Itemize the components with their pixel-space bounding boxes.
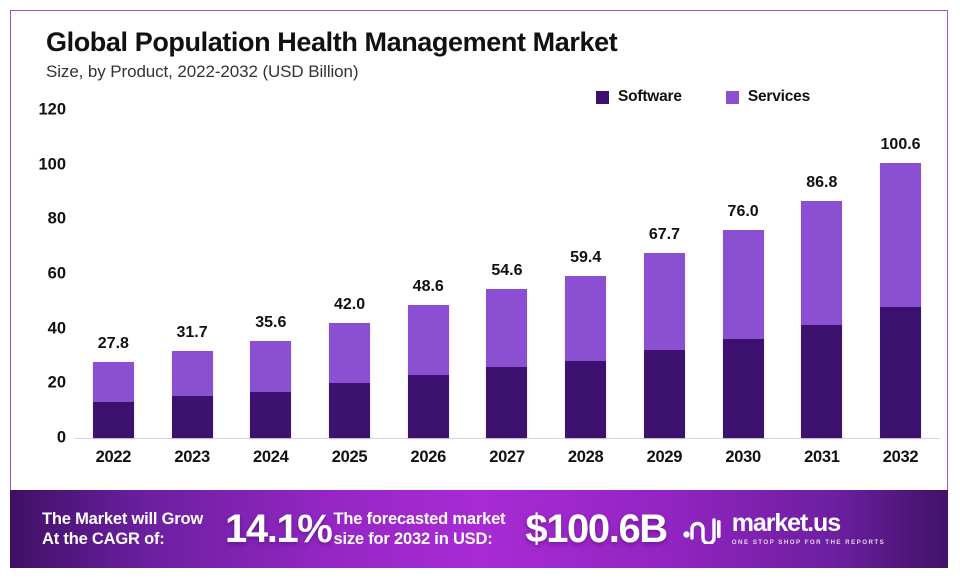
forecast-caption-block: The forecasted market size for 2032 in U…: [333, 509, 505, 549]
bar-stack[interactable]: [644, 253, 685, 438]
logo-name: market.us: [732, 511, 885, 536]
bar-segment-services[interactable]: [486, 289, 527, 367]
bar-group[interactable]: 35.6: [250, 110, 291, 438]
bar-segment-services[interactable]: [172, 351, 213, 396]
axis-baseline: [74, 438, 940, 439]
x-axis-tick: 2026: [408, 448, 449, 467]
bar-total-label: 86.8: [806, 174, 837, 192]
bar-group[interactable]: 59.4: [565, 110, 606, 438]
bar-segment-services[interactable]: [250, 341, 291, 392]
y-axis-tick: 0: [57, 429, 66, 448]
bar-total-label: 31.7: [177, 324, 208, 342]
legend-label-services: Services: [748, 88, 810, 106]
forecast-caption: The forecasted market size for 2032 in U…: [333, 509, 505, 549]
bar-segment-services[interactable]: [408, 305, 449, 374]
x-axis-tick: 2030: [723, 448, 764, 467]
bar-segment-services[interactable]: [723, 230, 764, 339]
bar-total-label: 27.8: [98, 335, 129, 353]
market-us-logo[interactable]: market.us ONE STOP SHOP FOR THE REPORTS: [681, 511, 885, 546]
page-title: Global Population Health Management Mark…: [46, 28, 906, 57]
bar-stack[interactable]: [723, 230, 764, 438]
cagr-caption-line2: At the CAGR of:: [42, 529, 203, 549]
bar-segment-services[interactable]: [880, 163, 921, 307]
bar-segment-services[interactable]: [644, 253, 685, 350]
cagr-caption: The Market will Grow At the CAGR of:: [42, 509, 203, 549]
x-axis-tick: 2031: [801, 448, 842, 467]
bar-total-label: 42.0: [334, 296, 365, 314]
forecast-caption-line1: The forecasted market: [333, 509, 505, 529]
chart-legend: Software Services: [596, 88, 810, 106]
legend-item-software[interactable]: Software: [596, 88, 682, 106]
bar-segment-software[interactable]: [329, 383, 370, 438]
bar-stack[interactable]: [801, 201, 842, 438]
cagr-value-block: 14.1%: [225, 507, 331, 552]
x-axis-tick: 2022: [93, 448, 134, 467]
bar-stack[interactable]: [172, 351, 213, 438]
forecast-caption-line2: size for 2032 in USD:: [333, 529, 505, 549]
bar-segment-software[interactable]: [801, 325, 842, 438]
bar-group[interactable]: 86.8: [801, 110, 842, 438]
x-axis: 2022202320242025202620272028202920302031…: [74, 448, 940, 467]
bar-segment-services[interactable]: [801, 201, 842, 325]
y-axis-tick: 60: [48, 265, 66, 284]
y-axis: 020406080100120: [14, 110, 66, 438]
bar-total-label: 76.0: [728, 203, 759, 221]
bar-group[interactable]: 27.8: [93, 110, 134, 438]
bar-segment-software[interactable]: [723, 339, 764, 438]
bar-stack[interactable]: [565, 276, 606, 438]
x-axis-tick: 2025: [329, 448, 370, 467]
bar-segment-software[interactable]: [93, 402, 134, 438]
bar-group[interactable]: 76.0: [723, 110, 764, 438]
x-axis-tick: 2028: [565, 448, 606, 467]
x-axis-tick: 2027: [486, 448, 527, 467]
bar-group[interactable]: 100.6: [880, 110, 921, 438]
x-axis-tick: 2023: [172, 448, 213, 467]
bar-stack[interactable]: [93, 362, 134, 438]
bar-segment-services[interactable]: [329, 323, 370, 383]
market-us-logo-mark-icon: [681, 514, 723, 544]
bar-group[interactable]: 42.0: [329, 110, 370, 438]
logo-tagline: ONE STOP SHOP FOR THE REPORTS: [732, 540, 885, 546]
x-axis-tick: 2032: [880, 448, 921, 467]
bar-series-container: 27.831.735.642.048.654.659.467.776.086.8…: [74, 110, 940, 438]
bar-total-label: 100.6: [881, 136, 921, 154]
bar-total-label: 48.6: [413, 278, 444, 296]
bar-group[interactable]: 67.7: [644, 110, 685, 438]
summary-banner: The Market will Grow At the CAGR of: 14.…: [10, 490, 948, 568]
forecast-value-block: $100.6B: [525, 507, 666, 552]
bar-segment-services[interactable]: [93, 362, 134, 402]
legend-label-software: Software: [618, 88, 682, 106]
bar-segment-services[interactable]: [565, 276, 606, 361]
bar-stack[interactable]: [329, 323, 370, 438]
infographic-root: Global Population Health Management Mark…: [0, 0, 960, 578]
bar-stack[interactable]: [250, 341, 291, 438]
bar-total-label: 59.4: [570, 249, 601, 267]
bar-total-label: 67.7: [649, 226, 680, 244]
bar-segment-software[interactable]: [172, 396, 213, 438]
forecast-value: $100.6B: [525, 507, 666, 552]
y-axis-tick: 100: [38, 155, 66, 174]
chart-header: Global Population Health Management Mark…: [46, 28, 906, 82]
bar-total-label: 35.6: [255, 314, 286, 332]
bar-group[interactable]: 31.7: [172, 110, 213, 438]
y-axis-tick: 120: [38, 101, 66, 120]
bar-segment-software[interactable]: [644, 350, 685, 438]
bar-segment-software[interactable]: [486, 367, 527, 438]
bar-segment-software[interactable]: [565, 361, 606, 438]
bar-group[interactable]: 48.6: [408, 110, 449, 438]
legend-swatch-software-icon: [596, 91, 609, 104]
cagr-value: 14.1%: [225, 507, 331, 552]
y-axis-tick: 20: [48, 374, 66, 393]
cagr-caption-block: The Market will Grow At the CAGR of:: [42, 509, 203, 549]
bar-segment-software[interactable]: [880, 307, 921, 438]
page-subtitle: Size, by Product, 2022-2032 (USD Billion…: [46, 62, 906, 82]
bar-stack[interactable]: [408, 305, 449, 438]
legend-swatch-services-icon: [726, 91, 739, 104]
cagr-caption-line1: The Market will Grow: [42, 509, 203, 529]
y-axis-tick: 40: [48, 319, 66, 338]
x-axis-tick: 2029: [644, 448, 685, 467]
plot-area: 020406080100120 27.831.735.642.048.654.6…: [0, 110, 960, 495]
bar-total-label: 54.6: [491, 262, 522, 280]
market-us-logo-text: market.us ONE STOP SHOP FOR THE REPORTS: [732, 511, 885, 546]
bar-stack[interactable]: [880, 163, 921, 438]
y-axis-tick: 80: [48, 210, 66, 229]
bar-stack[interactable]: [486, 289, 527, 438]
bar-segment-software[interactable]: [250, 392, 291, 438]
bar-group[interactable]: 54.6: [486, 110, 527, 438]
x-axis-tick: 2024: [250, 448, 291, 467]
bar-segment-software[interactable]: [408, 375, 449, 438]
legend-item-services[interactable]: Services: [726, 88, 810, 106]
